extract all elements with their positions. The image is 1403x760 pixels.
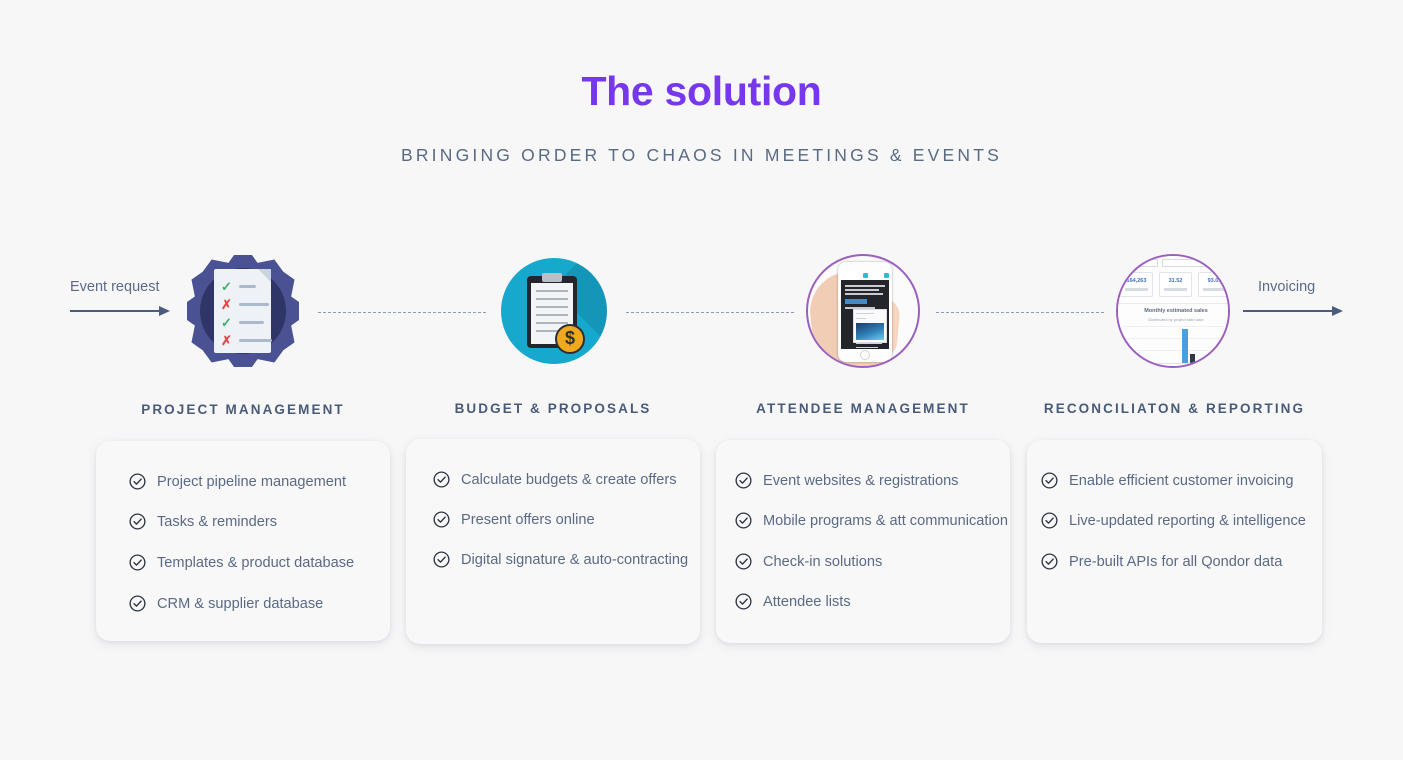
check-circle-icon [432,550,451,569]
stage-heading-reconciliation-reporting: RECONCILIATON & REPORTING [1023,401,1326,416]
stage-heading-budget-proposals: BUDGET & PROPOSALS [403,401,703,416]
list-item-label: Event websites & registrations [763,473,958,489]
list-item: Tasks & reminders [128,512,277,531]
list-item-label: Digital signature & auto-contracting [461,552,688,568]
list-item-label: Check-in solutions [763,554,882,570]
check-circle-icon [734,511,753,530]
solution-slide: The solution BRINGING ORDER TO CHAOS IN … [0,0,1403,760]
list-item: Mobile programs & att communication [734,511,1008,530]
page-subtitle: BRINGING ORDER TO CHAOS IN MEETINGS & EV… [0,145,1403,166]
list-item: Enable efficient customer invoicing [1040,471,1293,490]
check-circle-icon [432,510,451,529]
clipboard-icon: $ [527,276,577,348]
kpi-value: 93.05 [1199,278,1230,284]
list-item: Check-in solutions [734,552,882,571]
stage-heading-attendee-management: ATTENDEE MANAGEMENT [713,401,1013,416]
dashboard-chart-title: Monthly estimated sales [1116,308,1230,314]
list-item: Digital signature & auto-contracting [432,550,688,569]
dollar-coin-icon: $ [555,324,585,354]
flow-start-arrow-icon [70,306,170,316]
list-item: Templates & product database [128,553,354,572]
stage-card-project-management: Project pipeline management Tasks & remi… [96,441,390,641]
kpi-value: 164,263 [1121,278,1152,284]
stage-card-attendee-management: Event websites & registrations Mobile pr… [716,440,1010,643]
check-circle-icon [734,552,753,571]
smartphone-icon [838,262,892,362]
dashboard-bar-chart: ■ ■ [1122,326,1230,364]
check-circle-icon [128,512,147,531]
check-circle-icon [128,553,147,572]
check-circle-icon [1040,511,1059,530]
check-circle-icon [1040,552,1059,571]
list-item-label: Enable efficient customer invoicing [1069,473,1293,489]
stage-card-budget-proposals: Calculate budgets & create offers Presen… [406,439,700,644]
connector-3-4 [936,312,1104,313]
kpi-row: 164,263 31.52 93.05 [1120,272,1230,297]
list-item-label: Mobile programs & att communication [763,513,1008,529]
flow-end-arrow-icon [1243,306,1343,316]
list-item-label: Pre-built APIs for all Qondor data [1069,554,1282,570]
connector-1-2 [318,312,486,313]
list-item: Calculate budgets & create offers [432,470,677,489]
page-title: The solution [0,68,1403,115]
list-item-label: Calculate budgets & create offers [461,472,677,488]
connector-2-3 [626,312,794,313]
list-item: Live-updated reporting & intelligence [1040,511,1306,530]
process-flow: Event request ✓ ✗ ✓ ✗ [0,246,1403,376]
clipboard-dollar-icon: $ [501,258,607,364]
kpi-value: 31.52 [1160,278,1191,284]
stage-card-reconciliation-reporting: Enable efficient customer invoicing Live… [1027,440,1322,643]
list-item: Event websites & registrations [734,471,958,490]
list-item: CRM & supplier database [128,594,323,613]
checklist-document-icon: ✓ ✗ ✓ ✗ [214,269,271,353]
check-circle-icon [1040,471,1059,490]
check-circle-icon [734,471,753,490]
check-circle-icon [734,592,753,611]
list-item-label: Live-updated reporting & intelligence [1069,513,1306,529]
list-item-label: CRM & supplier database [157,596,323,612]
list-item: Project pipeline management [128,472,346,491]
check-circle-icon [128,594,147,613]
hand-holding-phone-icon [806,254,920,368]
list-item-label: Tasks & reminders [157,514,277,530]
list-item-label: Present offers online [461,512,595,528]
list-item: Pre-built APIs for all Qondor data [1040,552,1282,571]
list-item: Attendee lists [734,592,851,611]
check-circle-icon [432,470,451,489]
list-item: Present offers online [432,510,595,529]
check-circle-icon [128,472,147,491]
gear-checklist-icon: ✓ ✗ ✓ ✗ [187,255,299,367]
list-item-label: Templates & product database [157,555,354,571]
list-item-label: Project pipeline management [157,474,346,490]
flow-start-label: Event request [70,279,159,295]
dashboard-chart-subtitle: Distributed by project start date [1116,317,1230,322]
list-item-label: Attendee lists [763,594,851,610]
analytics-dashboard-icon: 164,263 31.52 93.05 Monthly estimated sa… [1116,254,1230,368]
stage-heading-project-management: PROJECT MANAGEMENT [93,402,393,417]
flow-end-label: Invoicing [1258,279,1315,295]
